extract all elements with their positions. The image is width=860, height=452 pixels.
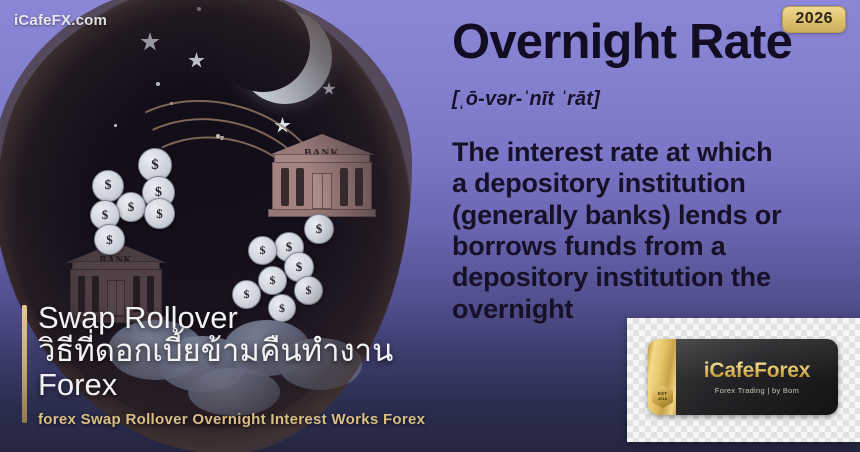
image-canvas: BANK BANK $ $ $ $ $ $ xyxy=(0,0,860,452)
seal-year-label: 2018 xyxy=(658,397,667,401)
headline-line-2: Forex xyxy=(38,368,462,401)
headline-subline: forex Swap Rollover Overnight Interest W… xyxy=(38,411,462,428)
headline-line-thai: วิธีที่ดอกเบี้ยข้ามคืนทำงาน xyxy=(38,334,462,367)
term-title: Overnight Rate xyxy=(452,18,850,68)
headline-block: Swap Rollover วิธีที่ดอกเบี้ยข้ามคืนทำงา… xyxy=(22,301,462,428)
logo-card[interactable]: EST 2018 iCafeForex Forex Trading | by B… xyxy=(627,318,860,442)
gold-accent-bar xyxy=(22,305,27,423)
brand-tagline: Forex Trading | by Bom xyxy=(715,386,799,395)
site-watermark: iCafeFX.com xyxy=(14,12,107,29)
logo-dark-panel: iCafeForex Forex Trading | by Bom xyxy=(676,339,838,415)
logo-gold-strip: EST 2018 xyxy=(648,339,676,415)
established-seal-icon: EST 2018 xyxy=(652,385,673,408)
headline-line-1: Swap Rollover xyxy=(38,301,462,334)
logo-badge: EST 2018 iCafeForex Forex Trading | by B… xyxy=(648,339,838,415)
term-phonetic: [ˌō-vər-ˈnīt ˈrāt] xyxy=(452,88,850,111)
glossary-panel: Overnight Rate [ˌō-vər-ˈnīt ˈrāt] The in… xyxy=(452,18,850,325)
brand-name: iCafeForex xyxy=(704,359,811,383)
term-definition: The interest rate at which a depository … xyxy=(452,137,784,325)
